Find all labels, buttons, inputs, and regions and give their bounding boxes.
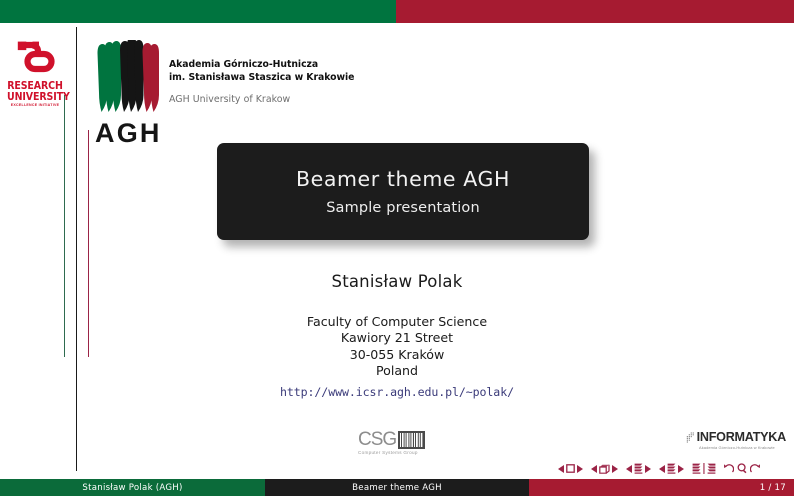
nav-search-icon[interactable] (737, 463, 748, 474)
top-bar-red-segment (396, 0, 794, 23)
nav-prev-triangle-icon[interactable] (591, 465, 597, 473)
nav-subsection-icon[interactable] (634, 463, 643, 474)
csg-subtitle: Computer Systems Group (358, 450, 444, 455)
nav-next-triangle-icon[interactable] (645, 465, 651, 473)
footer-page-segment: 1 / 17 (529, 479, 794, 496)
nav-group-history[interactable] (723, 463, 760, 474)
nav-group-section[interactable] (659, 463, 684, 474)
beamer-navigation-symbols[interactable] (558, 463, 761, 474)
nav-frame-cube-icon[interactable] (599, 464, 610, 474)
csg-letters: CSG (358, 430, 396, 449)
top-bar-green-segment (0, 0, 396, 23)
footer-author-text: Stanisław Polak (AGH) (82, 483, 182, 493)
research-university-line1: RESEARCH (7, 81, 63, 92)
csg-logo-row: CSG (358, 430, 444, 449)
top-decoration-bar (0, 0, 794, 23)
author-homepage-link[interactable]: http://www.icsr.agh.edu.pl/~polak/ (0, 385, 794, 399)
nav-group-subsection[interactable] (626, 463, 651, 474)
research-university-line3: EXCELLENCE INITIATIVE (7, 102, 63, 108)
agh-wordmark: AGH (95, 118, 170, 148)
nav-next-triangle-icon[interactable] (612, 465, 618, 473)
nav-doc-end-icon[interactable] (707, 463, 716, 474)
affiliation-line-3: 30-055 Kraków (0, 347, 794, 363)
footer-title-segment: Beamer theme AGH (265, 479, 529, 496)
nav-next-triangle-icon[interactable] (678, 465, 684, 473)
institution-line2: im. Stanisława Staszica w Krakowie (169, 72, 354, 85)
presentation-title: Beamer theme AGH (296, 167, 510, 191)
institution-name-block: Akademia Górniczo-Hutnicza im. Stanisław… (169, 59, 354, 105)
affiliation-line-4: Poland (0, 363, 794, 379)
affiliation-line-2: Kawiory 21 Street (0, 330, 794, 346)
research-university-mark-icon (13, 36, 57, 78)
institution-english-name: AGH University of Krakow (169, 94, 354, 105)
author-homepage-url-text: http://www.icsr.agh.edu.pl/~polak/ (280, 385, 514, 399)
nav-group-frame[interactable] (591, 464, 618, 474)
nav-forward-icon[interactable] (750, 463, 761, 474)
nav-doc-separator-icon (703, 463, 705, 474)
nav-group-document[interactable] (692, 463, 716, 474)
institution-line1: Akademia Górniczo-Hutnicza (169, 59, 354, 72)
informatyka-logo-row: INFORMATYKA (686, 431, 786, 444)
nav-group-slide[interactable] (558, 464, 583, 473)
csg-logo: CSG Computer Systems Group (358, 430, 444, 455)
presentation-subtitle: Sample presentation (326, 200, 480, 216)
title-box: Beamer theme AGH Sample presentation (217, 143, 589, 240)
informatyka-wordmark: INFORMATYKA (697, 431, 786, 444)
informatyka-logo: INFORMATYKA Akademia Górniczo-Hutnicza w… (686, 431, 786, 450)
footer-author-segment: Stanisław Polak (AGH) (0, 479, 265, 496)
research-university-line2: UNIVERSITY (7, 92, 63, 103)
footer-title-text: Beamer theme AGH (352, 483, 442, 493)
agh-bars-icon (95, 40, 165, 118)
informatyka-subtitle: Akademia Górniczo-Hutnicza w Krakowie (699, 445, 786, 450)
nav-doc-begin-icon[interactable] (692, 463, 701, 474)
agh-logo: AGH (95, 40, 165, 145)
footer-page-number: 1 / 17 (760, 483, 786, 493)
research-university-badge: RESEARCH UNIVERSITY EXCELLENCE INITIATIV… (7, 36, 63, 108)
affiliation-block: Faculty of Computer Science Kawiory 21 S… (0, 314, 794, 380)
nav-prev-triangle-icon[interactable] (659, 465, 665, 473)
nav-slide-square-icon[interactable] (566, 464, 575, 473)
csg-barcode-icon (398, 431, 425, 449)
nav-prev-triangle-icon[interactable] (558, 465, 564, 473)
nav-back-icon[interactable] (723, 463, 734, 474)
slide-footer: Stanisław Polak (AGH) Beamer theme AGH 1… (0, 479, 794, 496)
informatyka-dots-icon (686, 431, 695, 444)
presentation-slide: RESEARCH UNIVERSITY EXCELLENCE INITIATIV… (0, 0, 794, 496)
nav-prev-triangle-icon[interactable] (626, 465, 632, 473)
nav-next-triangle-icon[interactable] (577, 465, 583, 473)
nav-section-icon[interactable] (667, 463, 676, 474)
sidebar-rule-black (76, 27, 77, 471)
affiliation-line-1: Faculty of Computer Science (0, 314, 794, 330)
author-name: Stanisław Polak (0, 272, 794, 291)
